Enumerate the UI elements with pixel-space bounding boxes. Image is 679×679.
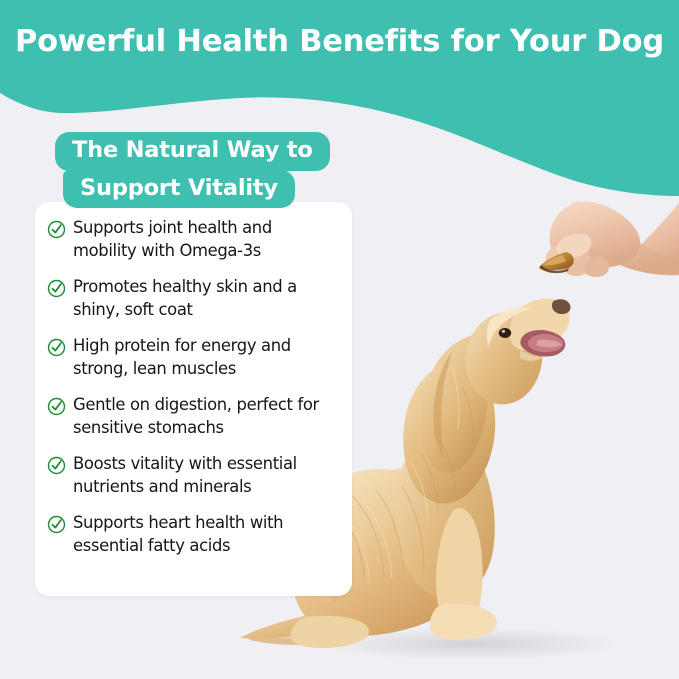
check-circle-icon (47, 515, 66, 534)
benefit-text: Promotes healthy skin and a shiny, soft … (73, 276, 338, 322)
badge: The Natural Way to Support Vitality (55, 132, 330, 208)
hand-with-treat (539, 201, 679, 277)
benefits-card: Supports joint health and mobility with … (35, 202, 352, 596)
page-title: Powerful Health Benefits for Your Dog (0, 24, 679, 59)
list-item: High protein for energy and strong, lean… (47, 335, 338, 381)
benefit-text: Supports joint health and mobility with … (73, 217, 338, 263)
list-item: Gentle on digestion, perfect for sensiti… (47, 394, 338, 440)
dog-shadow (320, 627, 620, 661)
check-circle-icon (47, 456, 66, 475)
dog-treat (539, 252, 574, 273)
list-item: Boosts vitality with essential nutrients… (47, 453, 338, 499)
badge-line-1: The Natural Way to (55, 132, 330, 171)
benefit-text: Boosts vitality with essential nutrients… (73, 453, 338, 499)
check-circle-icon (47, 220, 66, 239)
check-circle-icon (47, 397, 66, 416)
check-circle-icon (47, 338, 66, 357)
benefit-text: Gentle on digestion, perfect for sensiti… (73, 394, 338, 440)
benefit-text: High protein for energy and strong, lean… (73, 335, 338, 381)
benefit-text: Supports heart health with essential fat… (73, 512, 338, 558)
check-circle-icon (47, 279, 66, 298)
infographic-canvas: Powerful Health Benefits for Your Dog Th… (0, 0, 679, 679)
badge-line-2: Support Vitality (63, 170, 295, 209)
list-item: Supports joint health and mobility with … (47, 217, 338, 263)
list-item: Supports heart health with essential fat… (47, 512, 338, 558)
list-item: Promotes healthy skin and a shiny, soft … (47, 276, 338, 322)
